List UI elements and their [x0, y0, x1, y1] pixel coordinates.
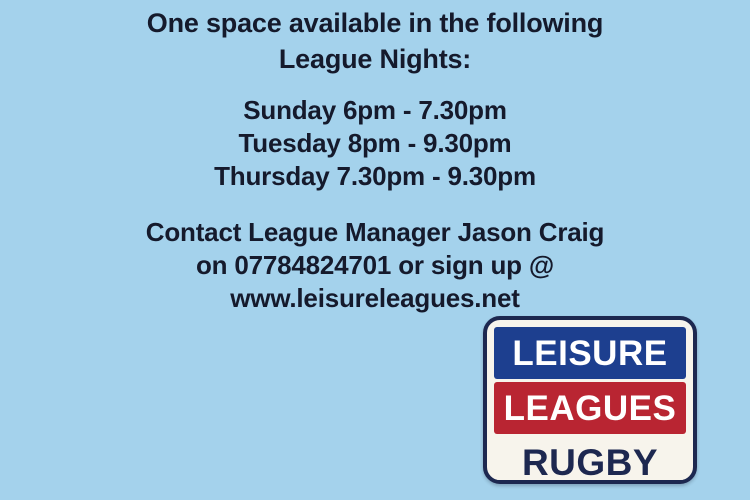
- logo-band-rugby: RUGBY: [494, 437, 686, 484]
- logo-band-leagues: LEAGUES: [494, 382, 686, 434]
- headline-line-1: One space available in the following: [0, 5, 750, 41]
- logo-band-leisure: LEISURE: [494, 327, 686, 379]
- contact-block: Contact League Manager Jason Craig on 07…: [0, 216, 750, 315]
- poster-canvas: One space available in the following Lea…: [0, 0, 750, 500]
- league-nights-list: Sunday 6pm - 7.30pm Tuesday 8pm - 9.30pm…: [0, 94, 750, 193]
- league-night-tuesday: Tuesday 8pm - 9.30pm: [0, 127, 750, 160]
- contact-website-line: www.leisureleagues.net: [0, 282, 750, 315]
- league-night-thursday: Thursday 7.30pm - 9.30pm: [0, 160, 750, 193]
- league-night-sunday: Sunday 6pm - 7.30pm: [0, 94, 750, 127]
- contact-manager-line: Contact League Manager Jason Craig: [0, 216, 750, 249]
- headline-line-2: League Nights:: [0, 41, 750, 77]
- leisure-leagues-rugby-logo: LEISURE LEAGUES RUGBY: [483, 316, 697, 484]
- headline: One space available in the following Lea…: [0, 5, 750, 77]
- contact-phone-line: on 07784824701 or sign up @: [0, 249, 750, 282]
